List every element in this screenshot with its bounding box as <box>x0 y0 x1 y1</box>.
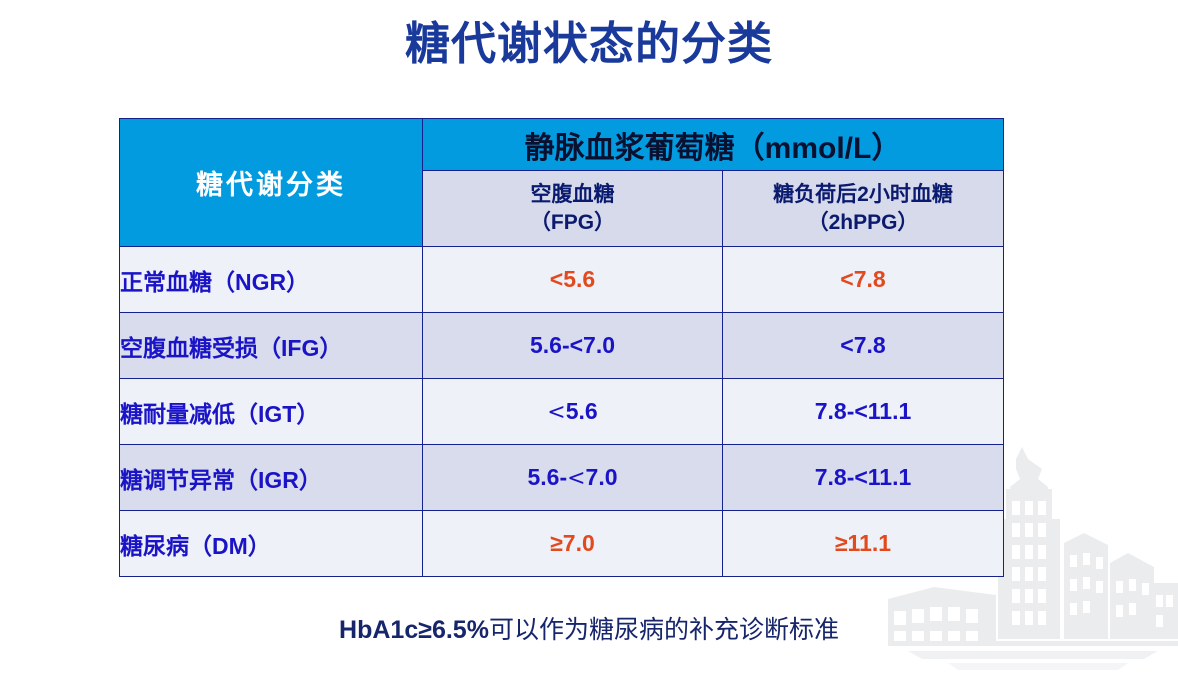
row-category-dm: 糖尿病（DM） <box>120 511 423 577</box>
subheader-fpg-name: 空腹血糖 <box>531 183 615 206</box>
row-dm-2hppg-value: ≥11.1 <box>723 511 1004 577</box>
subheader-fpg: 空腹血糖 （FPG） <box>423 171 723 247</box>
footer-note-text: 可以作为糖尿病的补充诊断标准 <box>489 616 839 644</box>
row-igt-2hppg-value: 7.8-<11.1 <box>723 379 1004 445</box>
header-category-label: 糖代谢分类 <box>120 119 423 247</box>
row-category-igt: 糖耐量减低（IGT） <box>120 379 423 445</box>
table-row: 糖耐量减低（IGT） <5.6 7.8-<11.1 <box>120 379 1004 445</box>
glucose-classification-table-wrapper: 糖代谢分类 静脉血浆葡萄糖（mmol/L） 空腹血糖 （FPG） 糖负荷后2小时… <box>119 118 1003 577</box>
row-ngr-fpg-value: <5.6 <box>423 247 723 313</box>
table-header-row-group: 糖代谢分类 静脉血浆葡萄糖（mmol/L） <box>120 119 1004 171</box>
footer-note: HbA1c≥6.5%可以作为糖尿病的补充诊断标准 <box>0 610 1178 646</box>
subheader-fpg-abbr: （FPG） <box>423 209 722 237</box>
row-ifg-fpg-value: 5.6-<7.0 <box>423 313 723 379</box>
row-category-ifg: 空腹血糖受损（IFG） <box>120 313 423 379</box>
table-row: 糖尿病（DM） ≥7.0 ≥11.1 <box>120 511 1004 577</box>
row-igr-2hppg-value: 7.8-<11.1 <box>723 445 1004 511</box>
row-category-igr: 糖调节异常（IGR） <box>120 445 423 511</box>
footer-hba1c-threshold: HbA1c≥6.5% <box>339 616 489 644</box>
row-category-ngr: 正常血糖（NGR） <box>120 247 423 313</box>
slide-title: 糖代谢状态的分类 <box>0 17 1178 71</box>
glucose-classification-table: 糖代谢分类 静脉血浆葡萄糖（mmol/L） 空腹血糖 （FPG） 糖负荷后2小时… <box>119 118 1004 577</box>
header-venous-plasma-glucose: 静脉血浆葡萄糖（mmol/L） <box>423 119 1004 171</box>
row-dm-fpg-value: ≥7.0 <box>423 511 723 577</box>
subheader-2hppg-name: 糖负荷后2小时血糖 <box>773 183 953 206</box>
subheader-2hppg-abbr: （2hPPG） <box>723 209 1003 237</box>
row-ifg-2hppg-value: <7.8 <box>723 313 1004 379</box>
subheader-2hppg: 糖负荷后2小时血糖 （2hPPG） <box>723 171 1004 247</box>
row-igt-fpg-value: <5.6 <box>423 379 723 445</box>
table-row: 糖调节异常（IGR） 5.6-<7.0 7.8-<11.1 <box>120 445 1004 511</box>
row-ngr-2hppg-value: <7.8 <box>723 247 1004 313</box>
table-row: 空腹血糖受损（IFG） 5.6-<7.0 <7.8 <box>120 313 1004 379</box>
row-igr-fpg-value: 5.6-<7.0 <box>423 445 723 511</box>
table-row: 正常血糖（NGR） <5.6 <7.8 <box>120 247 1004 313</box>
